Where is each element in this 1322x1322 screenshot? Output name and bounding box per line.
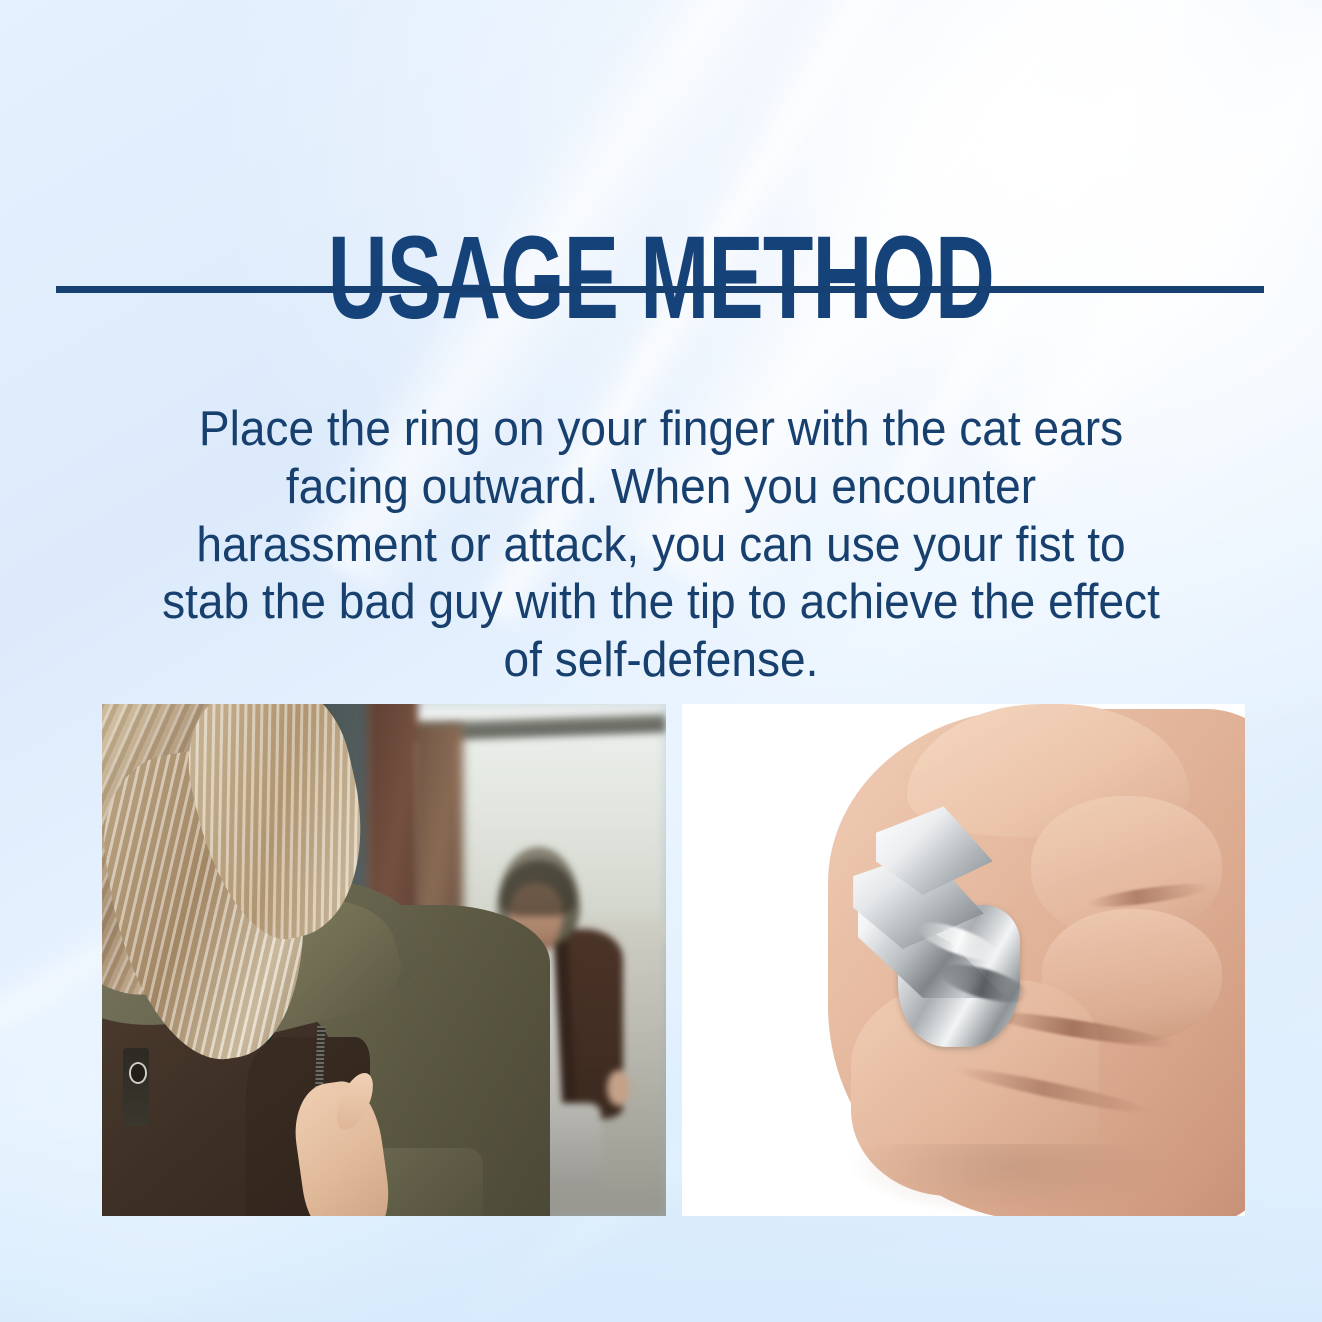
content-layer: USAGE METHOD Place the ring on your fing…	[0, 0, 1322, 1322]
title-divider	[56, 286, 1264, 293]
threat-scenario-photo	[102, 704, 666, 1216]
page-title: USAGE METHOD	[198, 219, 1123, 337]
woman-coat-stud	[129, 1062, 147, 1084]
infographic-page: USAGE METHOD Place the ring on your fing…	[0, 0, 1322, 1322]
cat-ear-ring	[840, 806, 1065, 1052]
hand-shadow	[851, 1144, 1166, 1216]
man-hand-right	[607, 1070, 630, 1106]
woman-coat-strap	[123, 1048, 149, 1125]
instruction-text: Place the ring on your finger with the c…	[162, 401, 1160, 690]
fist-scene	[682, 704, 1245, 1216]
street-scene	[102, 704, 666, 1216]
ring-worn-photo	[682, 704, 1245, 1216]
woman-figure	[102, 704, 531, 1216]
